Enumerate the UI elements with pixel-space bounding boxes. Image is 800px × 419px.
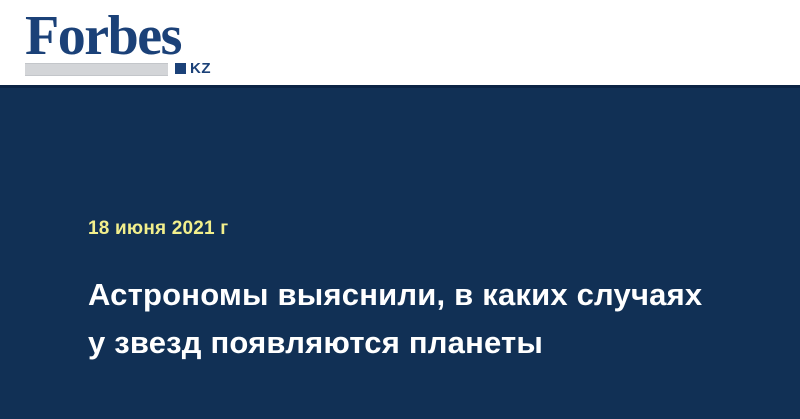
- forbes-wordmark: Forbes: [25, 8, 181, 64]
- publication-date: 18 июня 2021 г: [88, 217, 228, 241]
- logo-kz-badge: KZ: [175, 62, 211, 75]
- logo-country-code: KZ: [190, 61, 211, 76]
- square-icon: [175, 63, 186, 74]
- article-panel: 18 июня 2021 г Астрономы выяснили, в как…: [0, 88, 800, 419]
- masthead: Forbes KZ: [0, 0, 800, 85]
- forbes-kz-logo[interactable]: Forbes KZ: [25, 8, 240, 78]
- logo-rule-bar: [25, 63, 168, 76]
- page-title: Астрономы выяснили, в каких случаях у зв…: [88, 271, 708, 367]
- article-share-card: Forbes KZ 18 июня 2021 г Астрономы выясн…: [0, 0, 800, 419]
